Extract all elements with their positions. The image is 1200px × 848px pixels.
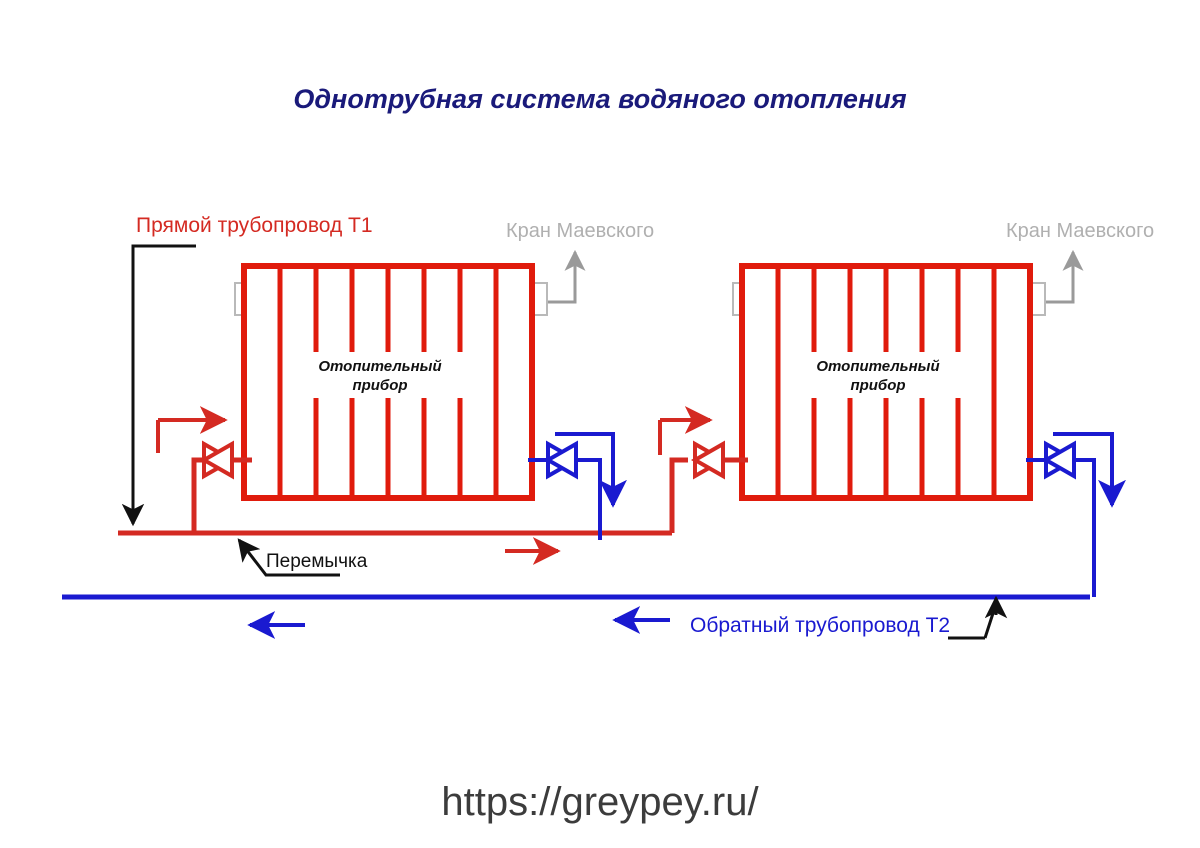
air-vent-leader-right (1046, 252, 1073, 302)
page-title: Однотрубная система водяного отопления (293, 84, 906, 114)
air-vent-label-right: Кран Маевского (1006, 220, 1154, 242)
radiator-right: Отопительный прибор (733, 266, 1045, 498)
jumper-label: Перемычка (266, 551, 368, 572)
jumper-riser-middle (672, 460, 688, 533)
radiator-right-label-line1: Отопительный (816, 358, 939, 375)
valve-supply-right[interactable] (695, 444, 723, 476)
supply-pipe-label: Прямой трубопровод Т1 (136, 214, 373, 237)
valve-supply-left[interactable] (204, 444, 232, 476)
heating-system-schematic: Однотрубная система водяного отопления П… (0, 0, 1200, 848)
air-vent-label-left: Кран Маевского (506, 220, 654, 242)
supply-label-leader-line (133, 246, 196, 524)
return-left-downpipe (576, 460, 600, 540)
watermark-url: https://greypey.ru/ (441, 780, 759, 824)
return-right-downpipe (1074, 460, 1094, 597)
return-label-leader-line (948, 604, 996, 638)
diagram-canvas: Однотрубная система водяного отопления П… (0, 0, 1200, 848)
radiator-left-label-line2: прибор (352, 377, 407, 394)
radiator-right-label-line2: прибор (850, 377, 905, 394)
valve-return-right[interactable] (1046, 444, 1074, 476)
radiator-left: Отопительный прибор (235, 266, 547, 498)
valve-return-left[interactable] (548, 444, 576, 476)
radiator-left-label-line1: Отопительный (318, 358, 441, 375)
return-pipe-label: Обратный трубопровод Т2 (690, 614, 950, 637)
air-vent-leader-left (548, 252, 575, 302)
